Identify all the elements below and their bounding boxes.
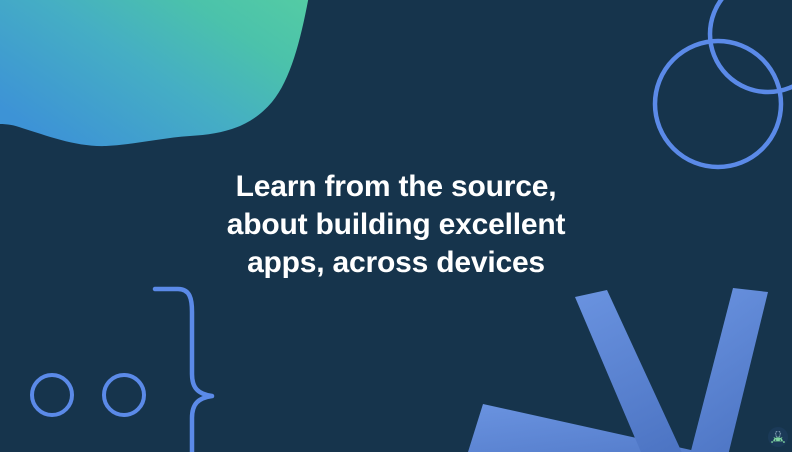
android-developers-logo[interactable]: {} — [768, 427, 788, 447]
braces-glyph: {} — [774, 431, 782, 438]
title-slide: Learn from the source, about building ex… — [0, 0, 792, 452]
decorative-background — [0, 0, 792, 452]
